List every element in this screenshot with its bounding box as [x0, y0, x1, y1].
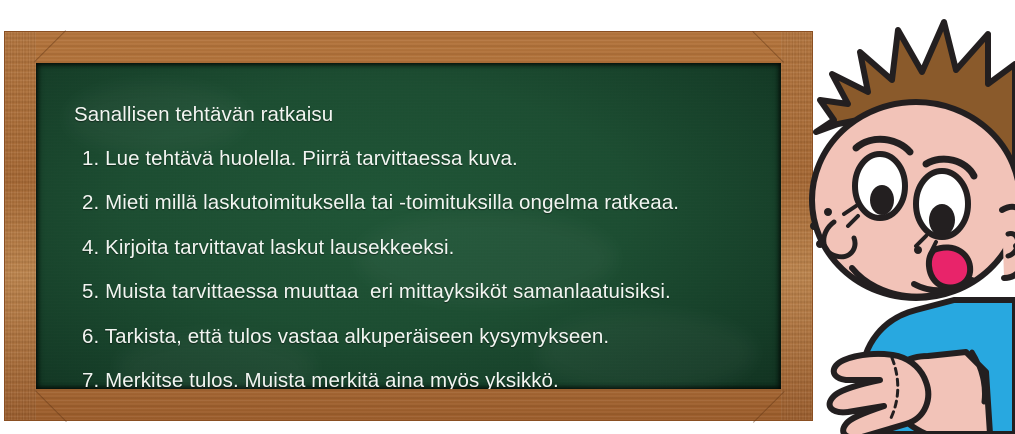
slide-canvas: Sanallisen tehtävän ratkaisu 1. Lue teht…: [0, 0, 1015, 434]
pupil-left: [870, 185, 894, 215]
list-item: 4. Kirjoita tarvittavat laskut lausekkee…: [82, 238, 771, 259]
steps-list: 1. Lue tehtävä huolella. Piirrä tarvitta…: [74, 149, 771, 390]
list-item: 1. Lue tehtävä huolella. Piirrä tarvitta…: [82, 149, 771, 170]
hand: [830, 354, 929, 434]
tongue: [929, 247, 970, 287]
board-text-block: Sanallisen tehtävän ratkaisu 1. Lue teht…: [74, 105, 771, 389]
frame-miter-top-left: [34, 30, 66, 62]
chalkboard-surface: Sanallisen tehtävän ratkaisu 1. Lue teht…: [36, 63, 781, 389]
boy-illustration: [776, 0, 1015, 434]
list-item: 7. Merkitse tulos. Muista merkitä aina m…: [82, 371, 771, 389]
frame-left-grain: [5, 32, 36, 420]
ear: [1002, 207, 1015, 278]
pupil-right: [929, 204, 955, 236]
list-item: 6. Tarkista, että tulos vastaa alkuperäi…: [82, 327, 771, 348]
freckle: [810, 222, 818, 230]
freckle: [824, 208, 832, 216]
list-item: 2. Mieti millä laskutoimituksella tai -t…: [82, 193, 771, 214]
frame-miter-bottom-left: [35, 390, 67, 422]
freckle: [816, 240, 824, 248]
page-title: Sanallisen tehtävän ratkaisu: [74, 105, 771, 126]
list-item: 5. Muista tarvittaessa muuttaa eri mitta…: [82, 282, 771, 303]
freckle: [914, 246, 922, 254]
chalkboard-wooden-frame: Sanallisen tehtävän ratkaisu 1. Lue teht…: [4, 31, 813, 421]
